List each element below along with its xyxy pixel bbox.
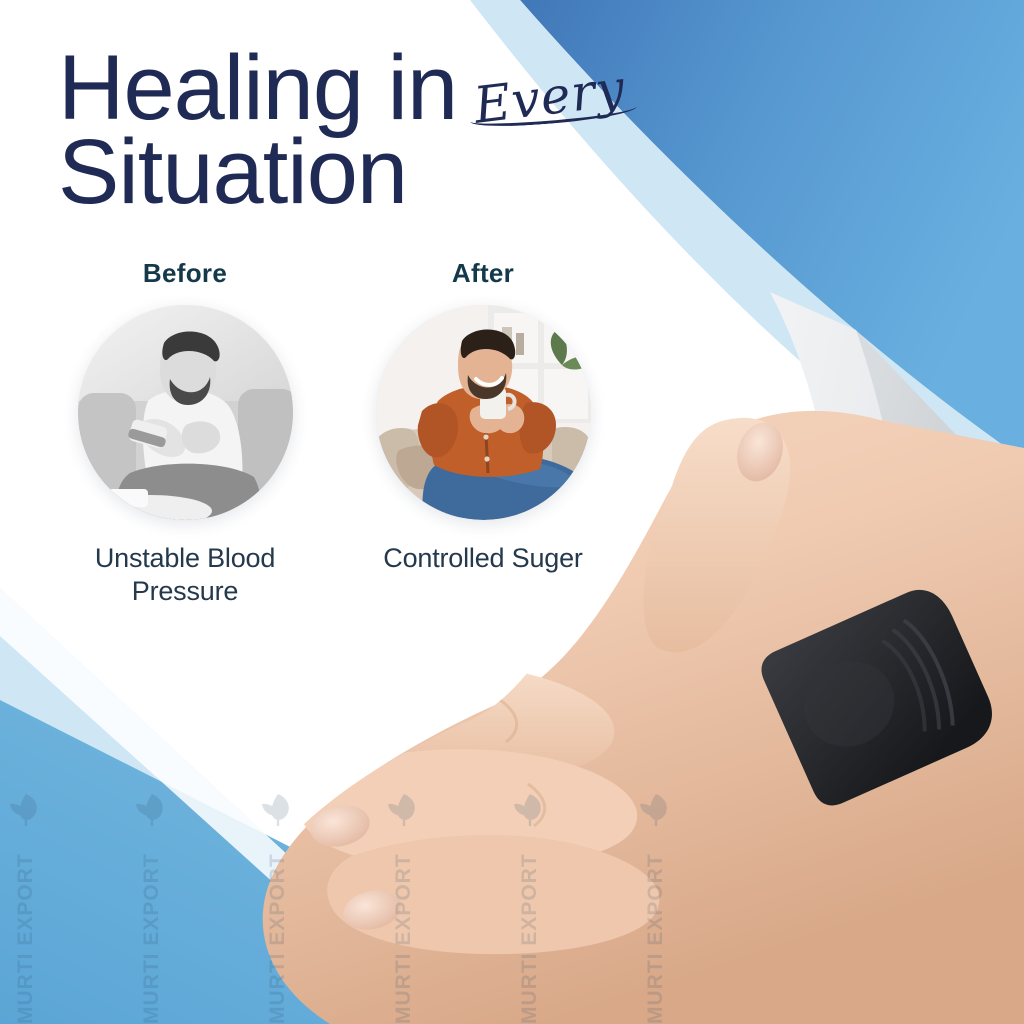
before-label: Before [143,258,227,289]
fingernail-upper [284,716,351,768]
headline-line-2: Situation [58,126,758,220]
before-caption: Unstable Blood Pressure [60,542,310,608]
after-label: After [452,258,514,289]
comparison-item-before: Before [60,258,310,608]
before-after-comparison: Before [60,258,640,608]
after-caption: Controlled Suger [383,542,582,575]
before-photo [78,305,293,520]
headline-block: Healing in Every Situation [58,44,758,220]
comparison-item-after: After [358,258,608,608]
after-photo [376,305,591,520]
headline-line-1: Healing in [58,44,457,132]
headline-script-word: Every [471,59,628,135]
promo-poster: Healing in Every Situation Before [0,0,1024,1024]
